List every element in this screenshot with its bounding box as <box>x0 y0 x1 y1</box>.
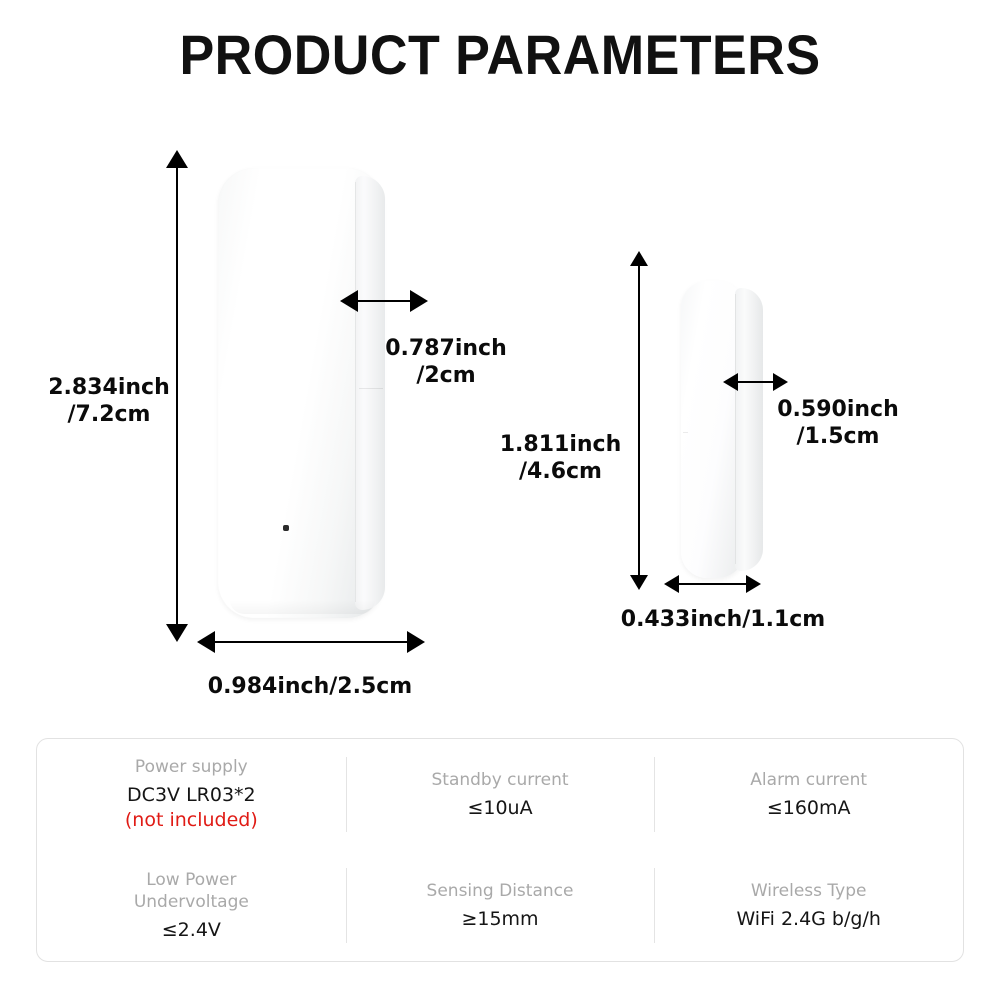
magnet-height-label: 1.811inch /4.6cm <box>488 431 633 485</box>
product-dimension-diagram: 2.834inch /7.2cm 0.787inch /2cm 0.984inc… <box>0 0 1000 730</box>
spec-cell-alarm-current: Alarm current ≤160mA <box>654 739 963 850</box>
led-indicator-dot <box>283 525 289 531</box>
magnet-height-arrow-down-icon <box>630 575 648 590</box>
main-width-dimension-line <box>213 641 409 643</box>
main-height-label: 2.834inch /7.2cm <box>34 374 184 428</box>
main-width-arrow-left-icon <box>197 631 215 653</box>
spec-cell-low-power-undervoltage: Low Power Undervoltage ≤2.4V <box>37 850 346 961</box>
main-depth-arrow-left-icon <box>340 290 358 312</box>
spec-label: Sensing Distance <box>427 880 574 902</box>
sensor-bottom-shadow <box>230 600 375 614</box>
magnet-height-dimension-line <box>638 265 640 578</box>
spec-value: ≤160mA <box>767 796 851 821</box>
spec-cell-standby-current: Standby current ≤10uA <box>346 739 655 850</box>
spec-value: ≤2.4V <box>162 918 221 943</box>
magnet-depth-label: 0.590inch /1.5cm <box>763 396 913 450</box>
main-depth-dimension-line <box>356 300 412 302</box>
magnet-width-label: 0.433inch/1.1cm <box>608 606 838 633</box>
main-depth-label: 0.787inch /2cm <box>371 335 521 389</box>
spec-cell-power-supply: Power supply DC3V LR03*2 (not included) <box>37 739 346 850</box>
magnet-depth-arrow-left-icon <box>723 373 738 391</box>
magnet-seam-line <box>735 294 736 564</box>
main-height-arrow-up-icon <box>166 150 188 168</box>
product-parameters-page: PRODUCT PARAMETERS 2.834inch /7.2cm 0.78… <box>0 0 1000 1000</box>
sensor-side-face <box>355 176 385 610</box>
spec-label: Low Power Undervoltage <box>134 869 249 913</box>
magnet-width-dimension-line <box>678 583 748 585</box>
spec-note: (not included) <box>125 808 258 833</box>
magnet-depth-dimension-line <box>737 381 775 383</box>
spec-value: WiFi 2.4G b/g/h <box>736 907 880 932</box>
spec-label: Power supply <box>135 756 248 778</box>
magnet-height-arrow-up-icon <box>630 251 648 266</box>
spec-cell-sensing-distance: Sensing Distance ≥15mm <box>346 850 655 961</box>
magnet-width-arrow-right-icon <box>746 575 761 593</box>
main-width-label: 0.984inch/2.5cm <box>185 673 435 700</box>
magnet-side-face <box>735 288 763 571</box>
main-width-arrow-right-icon <box>407 631 425 653</box>
spec-cell-wireless-type: Wireless Type WiFi 2.4G b/g/h <box>654 850 963 961</box>
table-row: Low Power Undervoltage ≤2.4V Sensing Dis… <box>37 850 963 961</box>
magnet-parting-line <box>683 432 688 433</box>
specification-table: Power supply DC3V LR03*2 (not included) … <box>36 738 964 962</box>
spec-label: Alarm current <box>750 769 867 791</box>
sensor-seam-line <box>355 182 356 602</box>
spec-value: ≤10uA <box>467 796 532 821</box>
table-row: Power supply DC3V LR03*2 (not included) … <box>37 739 963 850</box>
spec-label: Standby current <box>431 769 568 791</box>
magnet-depth-arrow-right-icon <box>773 373 788 391</box>
spec-label: Wireless Type <box>751 880 867 902</box>
spec-value: DC3V LR03*2 <box>127 783 256 808</box>
spec-value: ≥15mm <box>461 907 538 932</box>
main-depth-arrow-right-icon <box>410 290 428 312</box>
magnet-width-arrow-left-icon <box>664 575 679 593</box>
main-height-arrow-down-icon <box>166 624 188 642</box>
